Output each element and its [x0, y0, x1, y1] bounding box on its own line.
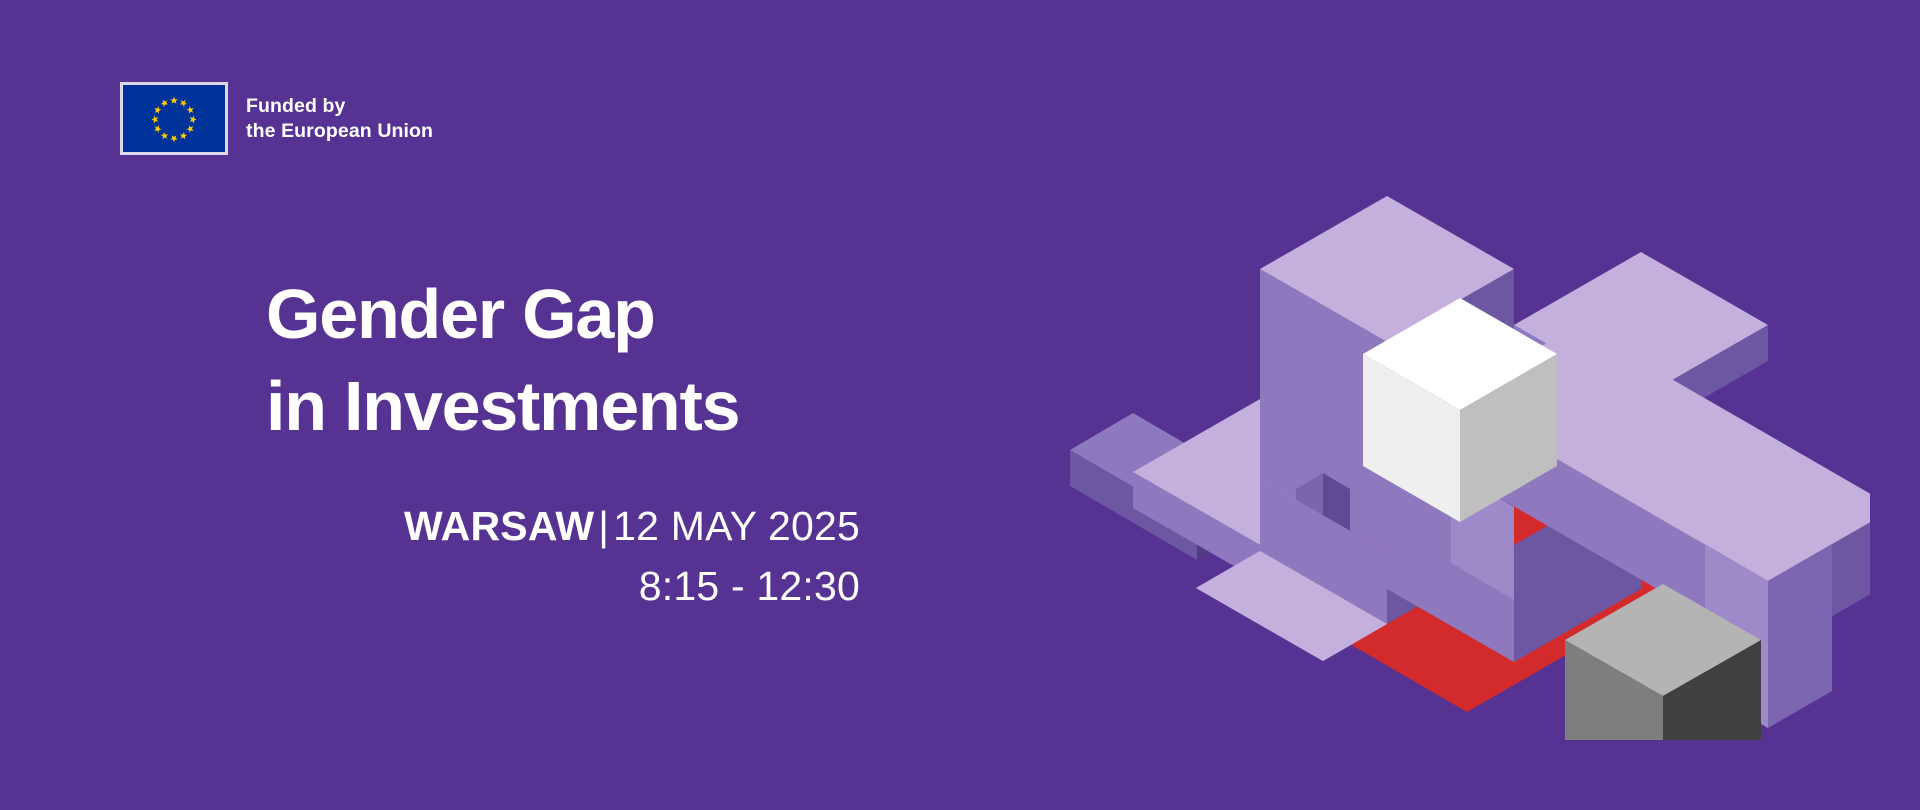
- eu-funding-text: Funded by the European Union: [246, 94, 433, 144]
- isometric-blocks-illustration: [1070, 100, 1870, 740]
- isometric-blocks-svg: [1070, 100, 1870, 740]
- page-title: Gender Gap in Investments: [266, 268, 906, 452]
- event-details: WARSAW|12 MAY 2025 8:15 - 12:30: [266, 496, 860, 616]
- event-time: 8:15 - 12:30: [266, 556, 860, 616]
- poster-canvas: Funded by the European Union Gender Gap …: [0, 0, 1920, 810]
- event-date: 12 MAY 2025: [613, 503, 860, 549]
- eu-stars: [123, 85, 225, 154]
- title-line-1: Gender Gap: [266, 268, 906, 360]
- event-city: WARSAW: [404, 503, 594, 549]
- eu-flag-icon: [120, 82, 228, 155]
- event-place-date: WARSAW|12 MAY 2025: [266, 496, 860, 556]
- event-separator: |: [594, 503, 613, 549]
- title-line-2: in Investments: [266, 360, 906, 452]
- eu-funding-badge: Funded by the European Union: [120, 82, 433, 155]
